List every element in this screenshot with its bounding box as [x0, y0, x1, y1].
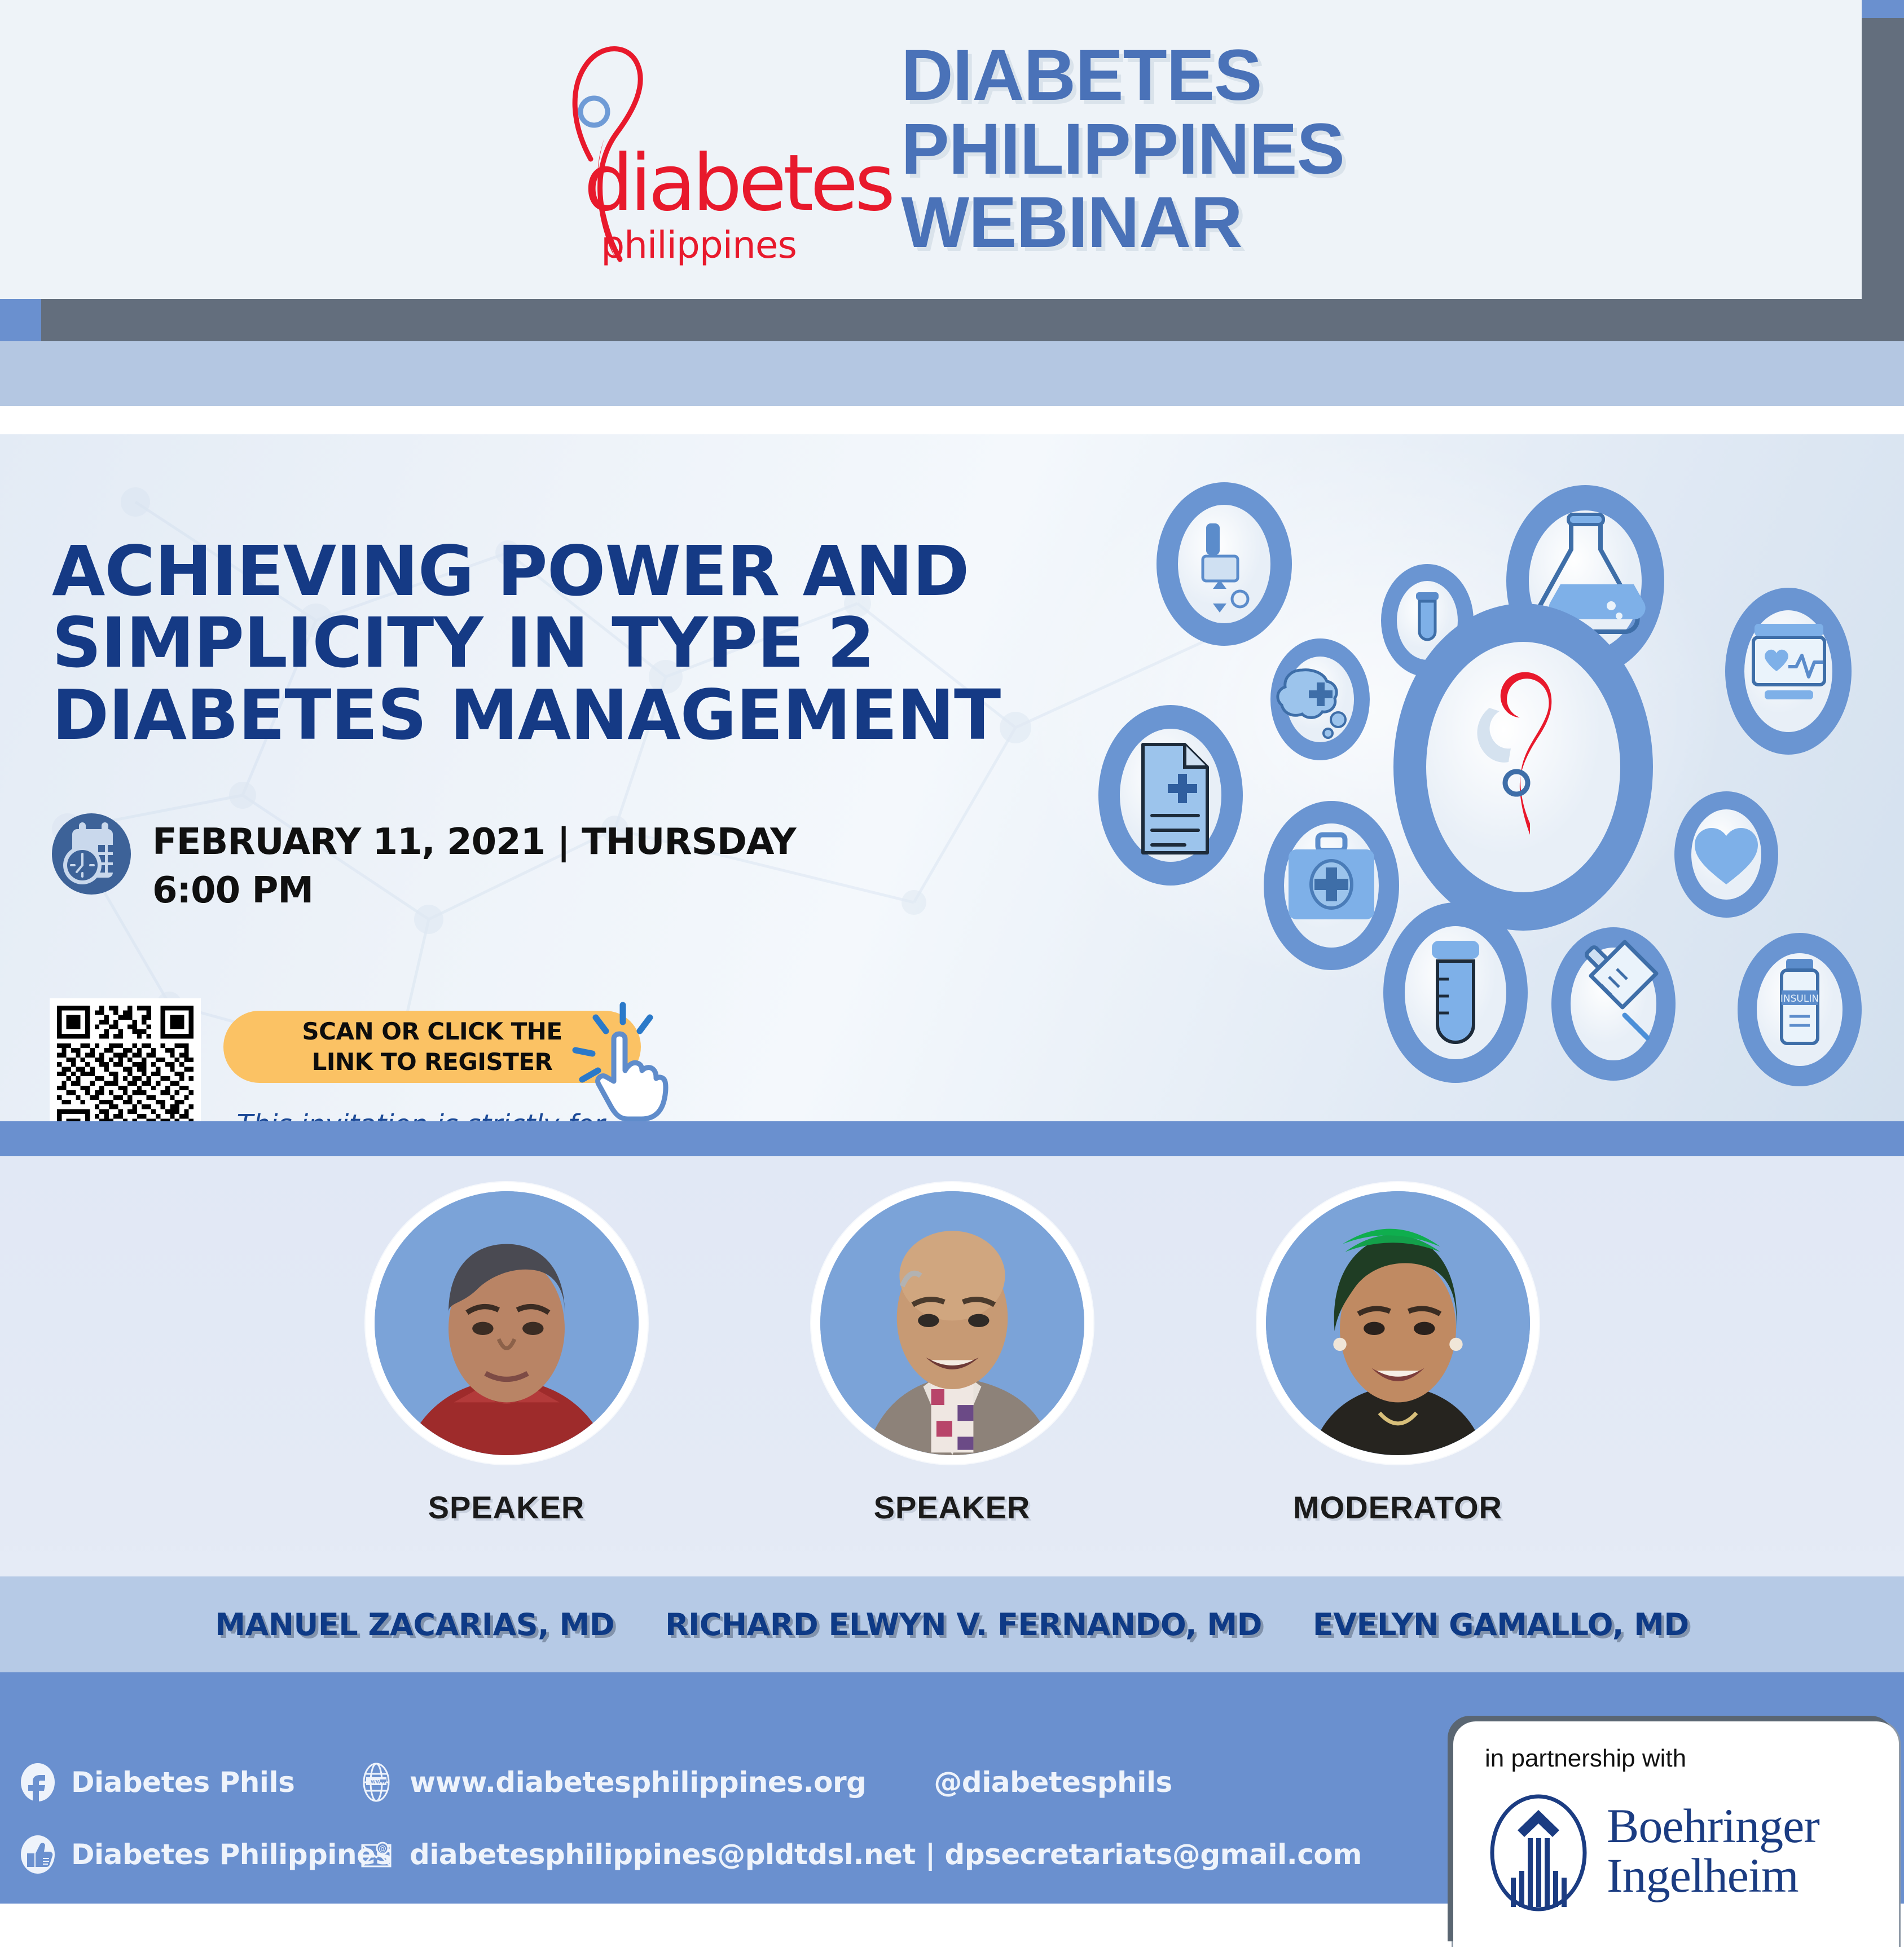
syringe-icon: [1551, 927, 1676, 1081]
speaker-1-role: SPEAKER: [428, 1489, 585, 1526]
speaker-2-avatar: [811, 1182, 1093, 1464]
header-blue-band: [0, 341, 1904, 406]
speaker-card-3: MODERATOR: [1240, 1182, 1556, 1526]
glucometer-icon: [1157, 482, 1292, 646]
social-handle[interactable]: @diabetesphils: [934, 1766, 1172, 1799]
partner-card: in partnership with Boehringer Ingelheim: [1453, 1721, 1899, 1947]
first-aid-kit-icon: [1264, 801, 1399, 970]
header-accent-top-right: [1862, 0, 1904, 18]
header-frame-bottom: [0, 299, 1904, 341]
header-white-gap: [0, 406, 1904, 434]
footer-row-bottom: Diabetes Philippines @ diabetesphilippin…: [18, 1835, 1362, 1874]
speaker-2-role: SPEAKER: [874, 1489, 1031, 1526]
facebook-profile-name[interactable]: Diabetes Phils: [71, 1766, 294, 1799]
moderator-name: EVELYN GAMALLO, MD: [1313, 1607, 1689, 1642]
facebook-page-name[interactable]: Diabetes Philippines: [71, 1838, 392, 1871]
moderator-role: MODERATOR: [1293, 1489, 1502, 1526]
partnership-label: in partnership with: [1485, 1744, 1871, 1774]
medical-icon-cluster: INSULIN: [1094, 451, 1904, 1105]
thumbs-up-icon[interactable]: [18, 1835, 58, 1874]
speaker-card-2: SPEAKER: [794, 1182, 1110, 1526]
register-label-line-1: SCAN OR CLICK THE: [302, 1016, 562, 1047]
click-cursor-icon: [551, 995, 680, 1130]
email-addresses[interactable]: diabetesphilippines@pldtdsl.net | dpsecr…: [410, 1838, 1362, 1871]
partner-name-line-2: Ingelheim: [1607, 1851, 1819, 1901]
header-frame-right: [1862, 0, 1904, 341]
register-label-line-2: LINK TO REGISTER: [312, 1047, 553, 1077]
speaker-1-name: MANUEL ZACARIAS, MD: [215, 1607, 614, 1642]
webinar-topic-title: ACHIEVING POWER AND SIMPLICITY IN TYPE 2…: [52, 536, 1124, 751]
heart-icon: [1674, 791, 1778, 918]
speaker-names-band: MANUEL ZACARIAS, MD RICHARD ELWYN V. FER…: [0, 1576, 1904, 1672]
test-tube-large-icon: [1383, 902, 1528, 1083]
svg-text:@: @: [379, 1844, 386, 1853]
boehringer-ingelheim-logo-icon: [1485, 1786, 1592, 1916]
svg-text:INSULIN: INSULIN: [1780, 993, 1819, 1005]
email-icon: @: [357, 1835, 396, 1874]
speaker-1-avatar: [366, 1182, 648, 1464]
diabetes-philippines-logo: diabetes philippines: [517, 28, 878, 271]
logo-subtext: philippines: [601, 227, 797, 264]
speaker-2-name: RICHARD ELWYN V. FERNANDO, MD: [665, 1607, 1262, 1642]
central-logo-icon: [1393, 604, 1653, 931]
calendar-clock-icon: [50, 812, 133, 896]
speaker-card-1: SPEAKER: [349, 1182, 665, 1526]
event-time: 6:00 PM: [152, 866, 796, 915]
website-url[interactable]: www.diabetesphilippines.org: [410, 1766, 866, 1799]
facebook-icon[interactable]: [18, 1763, 58, 1802]
header-accent-bottom-left: [0, 299, 41, 341]
header-title-line-1: DIABETES: [901, 39, 1344, 113]
partner-name-line-1: Boehringer: [1607, 1801, 1819, 1851]
insulin-vial-icon: INSULIN: [1738, 933, 1862, 1086]
hero-speakers-divider: [0, 1121, 1904, 1156]
moderator-avatar: [1257, 1182, 1539, 1464]
header-title-line-2: PHILIPPINES: [901, 113, 1344, 187]
page-header: diabetes philippines DIABETES PHILIPPINE…: [0, 0, 1904, 434]
schedule-block: FEBRUARY 11, 2021 | THURSDAY 6:00 PM: [50, 812, 796, 915]
prescription-document-icon: [1098, 705, 1243, 886]
hero-section: ACHIEVING POWER AND SIMPLICITY IN TYPE 2…: [0, 434, 1904, 1128]
event-date: FEBRUARY 11, 2021 | THURSDAY: [152, 818, 796, 866]
header-title-block: DIABETES PHILIPPINES WEBINAR: [901, 39, 1344, 260]
header-title-line-3: WEBINAR: [901, 186, 1344, 260]
medical-idea-icon: [1270, 638, 1370, 760]
patient-monitor-icon: [1725, 588, 1852, 755]
footer-row-top: Diabetes Phils www. www.diabetesphilippi…: [18, 1763, 1362, 1802]
globe-icon: www.: [357, 1763, 396, 1802]
logo-wordmark: diabetes: [584, 144, 892, 222]
